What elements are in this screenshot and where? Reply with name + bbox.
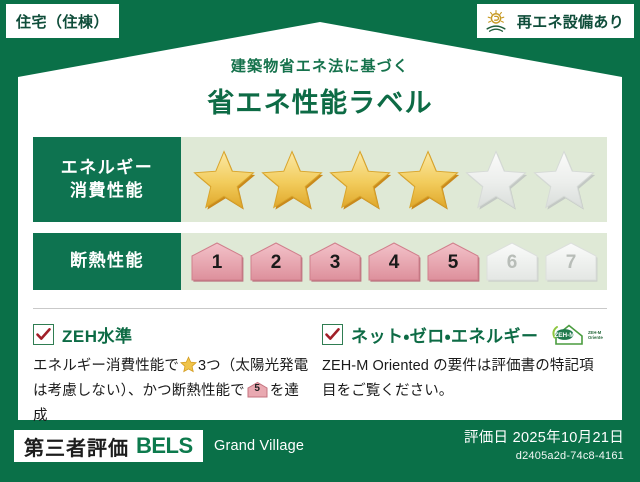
insulation-level-active: 5 — [425, 241, 481, 283]
title-block: 建築物省エネ法に基づく 省エネ性能ラベル — [0, 55, 640, 120]
net-zero-energy-heading: ネット・ゼロ・エネルギー ZEH-M ZEH-M Oriented — [322, 322, 599, 346]
bels-jp-label: 第三者評価 — [24, 432, 129, 461]
label-title: 省エネ性能ラベル — [0, 81, 640, 120]
sun-renewable-icon — [485, 9, 511, 33]
zeh-standard-checkbox[interactable] — [33, 324, 54, 345]
insulation-level-active: 1 — [189, 241, 245, 283]
energy-performance-row: エネルギー 消費性能 — [33, 137, 607, 222]
zeh-desc-pre: エネルギー消費性能で — [33, 358, 179, 374]
star-filled-icon — [396, 149, 460, 211]
energy-performance-label-line1: エネルギー — [61, 157, 154, 180]
star-empty-icon — [532, 149, 596, 211]
insulation-performance-label-cell: 断熱性能 — [33, 233, 181, 290]
zeh-standard-description: エネルギー消費性能で3つ（太陽光発電は考慮しない）、かつ断熱性能で5を達成 — [33, 354, 310, 429]
insulation-level-inactive: 6 — [484, 241, 540, 283]
inline-house-badge-number: 5 — [247, 381, 268, 398]
star-filled-icon — [260, 149, 324, 211]
zeh-m-oriented-logo: ZEH-M ZEH-M Oriented — [549, 321, 603, 347]
section-divider — [33, 308, 607, 309]
energy-performance-label-cell: エネルギー 消費性能 — [33, 137, 181, 222]
insulation-level-number: 5 — [448, 253, 459, 283]
category-chip-label: 住宅（住棟） — [16, 11, 109, 32]
insulation-level-number: 2 — [271, 253, 282, 283]
insulation-level-number: 7 — [566, 253, 577, 283]
insulation-level-inactive: 7 — [543, 241, 599, 283]
energy-performance-label: 住宅（住棟） 再エネ設備あり 建築 — [0, 0, 640, 482]
net-zero-energy-block: ネット・ゼロ・エネルギー ZEH-M ZEH-M Oriented ZEH-M … — [322, 322, 611, 429]
label-subtitle: 建築物省エネ法に基づく — [0, 55, 640, 76]
net-zero-energy-checkbox[interactable] — [322, 324, 343, 345]
evaluation-id: d2405a2d-74c8-4161 — [464, 450, 624, 462]
renewable-energy-label: 再エネ設備あり — [517, 11, 624, 32]
insulation-level-scale: 1234567 — [181, 233, 607, 290]
insulation-level-active: 3 — [307, 241, 363, 283]
insulation-level-active: 2 — [248, 241, 304, 283]
net-zero-energy-description: ZEH-M Oriented の要件は評価書の特記項目をご覧ください。 — [322, 354, 599, 404]
insulation-level-number: 4 — [389, 253, 400, 283]
evaluation-date: 評価日 2025年10月21日 — [464, 426, 624, 447]
insulation-level-number: 3 — [330, 253, 341, 283]
bels-chip: 第三者評価 BELS — [14, 430, 203, 462]
footer-bar: 第三者評価 BELS Grand Village 評価日 2025年10月21日… — [0, 420, 640, 482]
zeh-standard-block: ZEH水準 エネルギー消費性能で3つ（太陽光発電は考慮しない）、かつ断熱性能で5… — [33, 322, 322, 429]
svg-text:ZEH-M: ZEH-M — [554, 332, 574, 339]
renewable-energy-chip: 再エネ設備あり — [477, 4, 634, 38]
bels-en-label: BELS — [136, 433, 193, 459]
zeh-standard-title: ZEH水準 — [62, 322, 133, 347]
project-name: Grand Village — [214, 438, 304, 454]
insulation-level-active: 4 — [366, 241, 422, 283]
inline-star-icon — [180, 356, 197, 373]
inline-house-badge: 5 — [247, 381, 268, 398]
energy-performance-label-line2: 消費性能 — [70, 180, 144, 203]
category-chip: 住宅（住棟） — [6, 4, 119, 38]
star-filled-icon — [192, 149, 256, 211]
performance-rows: エネルギー 消費性能 断熱性能 1234567 — [33, 137, 607, 301]
insulation-level-number: 1 — [212, 253, 223, 283]
svg-text:Oriented: Oriented — [588, 335, 603, 340]
energy-star-rating — [181, 137, 607, 222]
insulation-level-number: 6 — [507, 253, 518, 283]
net-zero-energy-title: ネット・ゼロ・エネルギー — [351, 322, 539, 347]
insulation-performance-label-line1: 断熱性能 — [70, 250, 144, 273]
insulation-performance-row: 断熱性能 1234567 — [33, 233, 607, 290]
info-columns: ZEH水準 エネルギー消費性能で3つ（太陽光発電は考慮しない）、かつ断熱性能で5… — [33, 322, 611, 429]
evaluation-info: 評価日 2025年10月21日 d2405a2d-74c8-4161 — [464, 426, 624, 462]
zeh-standard-heading: ZEH水準 — [33, 322, 310, 346]
star-empty-icon — [464, 149, 528, 211]
star-filled-icon — [328, 149, 392, 211]
